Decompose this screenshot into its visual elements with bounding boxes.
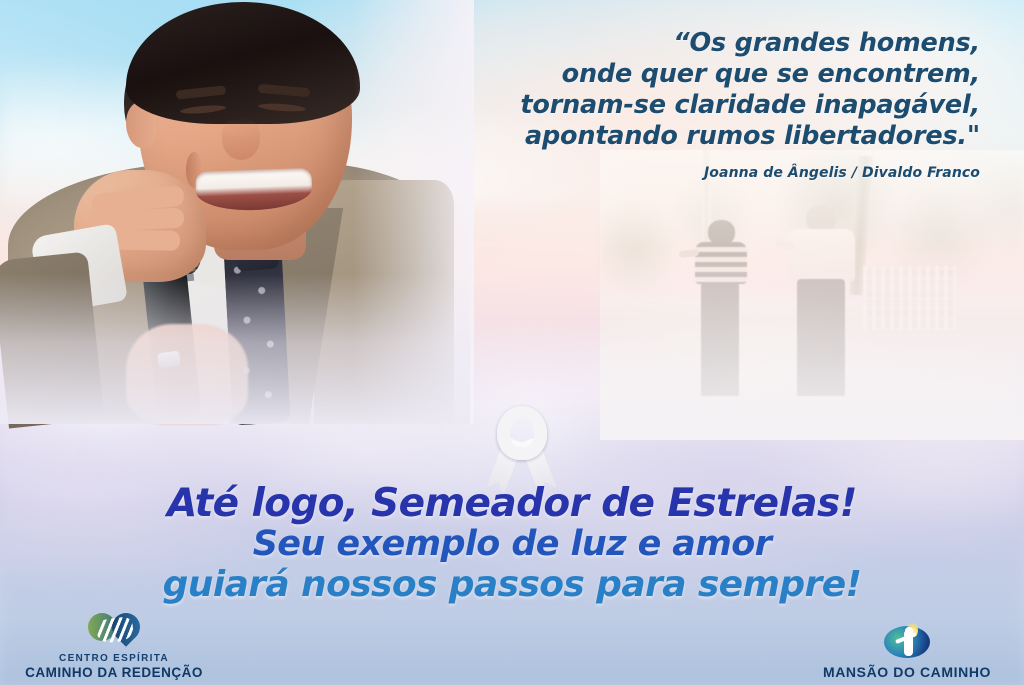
portrait-divaldo-franco [0,0,470,424]
quote-block: “Os grandes homens, onde quer que se enc… [420,28,980,181]
logo-left-line-2: CAMINHO DA REDENÇÃO [14,665,214,681]
portrait-nose [222,118,260,160]
headline-line-1: Até logo, Semeador de Estrelas! [0,483,1024,525]
memorial-poster: “Os grandes homens, onde quer que se enc… [0,0,1024,685]
portrait-fade-bottom [0,274,470,424]
globe-torch-icon [884,624,930,660]
ribbon-loop [497,406,547,460]
mourning-ribbon-icon [481,406,563,490]
logo-mansao-do-caminho: MANSÃO DO CAMINHO [802,624,1012,681]
logo-centro-espirita: CENTRO ESPÍRITA CAMINHO DA REDENÇÃO [14,613,214,681]
quote-author: Joanna de Ângelis / Divaldo Franco [420,165,980,181]
headline-block: Até logo, Semeador de Estrelas! Seu exem… [0,483,1024,605]
background-photo-fade-overlay [600,150,1024,440]
quote-line-1: “Os grandes homens, [420,28,980,59]
headline-line-2: Seu exemplo de luz e amor [0,525,1024,564]
heart-hands-icon [87,613,141,649]
logo-left-line-1: CENTRO ESPÍRITA [14,653,214,665]
headline-line-3: guiará nossos passos para sempre! [0,564,1024,605]
quote-line-3: tornam-se claridade inapagável, [420,90,980,121]
quote-line-2: onde quer que se encontrem, [420,59,980,90]
logo-right-line-1: MANSÃO DO CAMINHO [802,664,1012,681]
quote-line-4: apontando rumos libertadores." [420,121,980,152]
